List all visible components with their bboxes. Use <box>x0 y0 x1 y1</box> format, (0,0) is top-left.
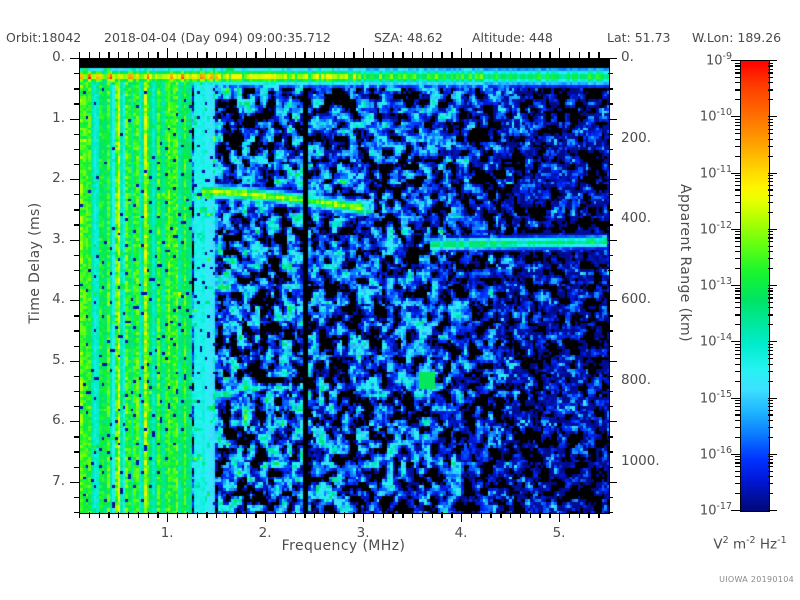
axis-tick <box>295 512 296 518</box>
axis-tick <box>608 270 613 271</box>
header-sza: SZA: 48.62 <box>374 30 443 45</box>
colorbar-tick <box>735 354 740 355</box>
axis-tick <box>70 119 79 120</box>
header-datetime: 2018-04-04 (Day 094) 09:00:35.712 <box>104 30 331 45</box>
colorbar-tick <box>768 406 773 407</box>
axis-tick <box>206 512 207 518</box>
axis-tick <box>177 52 178 58</box>
colorbar-tick <box>731 60 740 61</box>
y-tick-label-left-7: 7. <box>0 473 65 489</box>
axis-tick <box>236 52 237 58</box>
axis-tick <box>74 315 79 316</box>
header-metadata-bar: Orbit:18042 2018-04-04 (Day 094) 09:00:3… <box>0 30 800 50</box>
colorbar <box>740 60 770 512</box>
axis-tick <box>74 497 79 498</box>
axis-tick <box>608 512 613 513</box>
colorbar-tick <box>768 89 773 90</box>
axis-tick <box>265 48 266 58</box>
axis-tick <box>412 52 413 58</box>
colorbar-label-exponent: -9 <box>723 51 732 62</box>
axis-tick <box>471 52 472 58</box>
axis-tick <box>588 52 589 58</box>
colorbar-label-mantissa: 10 <box>700 391 717 406</box>
colorbar-tick <box>768 241 773 242</box>
colorbar-tick <box>768 471 773 472</box>
axis-tick <box>608 361 617 362</box>
axis-tick <box>530 512 531 518</box>
colorbar-tick <box>735 466 740 467</box>
colorbar-tick <box>731 116 740 117</box>
axis-tick <box>295 52 296 58</box>
axis-tick <box>74 73 79 74</box>
colorbar-tick <box>731 229 740 230</box>
colorbar-tick <box>768 307 773 308</box>
axis-tick <box>226 52 227 58</box>
axis-tick <box>70 179 79 180</box>
axis-tick <box>608 209 613 210</box>
unit-hz-exponent: -1 <box>777 535 786 546</box>
axis-tick <box>197 52 198 58</box>
colorbar-tick <box>735 347 740 348</box>
colorbar-tick <box>768 420 773 421</box>
colorbar-tick <box>768 410 773 411</box>
colorbar-tick-label-5: 10-14 <box>672 332 732 349</box>
colorbar-tick <box>768 60 777 61</box>
axis-tick <box>74 270 79 271</box>
axis-tick <box>74 376 79 377</box>
colorbar-label-mantissa: 10 <box>700 503 717 518</box>
axis-tick <box>451 512 452 518</box>
axis-tick <box>74 436 79 437</box>
colorbar-tick <box>768 341 777 342</box>
unit-v-exponent: 2 <box>723 535 729 546</box>
axis-tick <box>128 512 129 518</box>
axis-tick <box>74 209 79 210</box>
colorbar-tick <box>735 420 740 421</box>
colorbar-tick <box>735 195 740 196</box>
colorbar-tick <box>735 181 740 182</box>
spectrogram-heatmap <box>80 59 609 513</box>
colorbar-tick <box>735 63 740 64</box>
colorbar-tick <box>768 400 773 401</box>
colorbar-gradient <box>741 61 769 511</box>
axis-tick <box>608 436 613 437</box>
colorbar-tick <box>768 65 773 66</box>
axis-tick <box>608 179 617 180</box>
colorbar-tick <box>735 241 740 242</box>
colorbar-tick-label-1: 10-10 <box>672 107 732 124</box>
axis-tick <box>344 52 345 58</box>
colorbar-tick <box>768 202 773 203</box>
colorbar-tick <box>735 437 740 438</box>
y-tick-label-right-2: 400. <box>621 210 651 226</box>
colorbar-label-mantissa: 10 <box>700 110 717 125</box>
colorbar-tick <box>768 324 773 325</box>
axis-tick <box>324 52 325 58</box>
colorbar-tick <box>735 189 740 190</box>
axis-tick <box>490 512 491 518</box>
axis-tick <box>608 240 617 241</box>
axis-tick <box>373 52 374 58</box>
colorbar-tick <box>768 403 773 404</box>
colorbar-tick <box>735 119 740 120</box>
colorbar-tick <box>768 314 773 315</box>
colorbar-tick <box>768 358 773 359</box>
unit-m: m <box>733 537 746 553</box>
colorbar-tick <box>768 69 773 70</box>
axis-tick <box>79 52 80 58</box>
axis-tick <box>148 512 149 518</box>
colorbar-tick <box>735 400 740 401</box>
axis-tick <box>461 48 462 58</box>
axis-tick <box>70 300 79 301</box>
colorbar-tick <box>768 427 773 428</box>
colorbar-label-exponent: -14 <box>716 332 732 343</box>
axis-tick <box>608 119 617 120</box>
colorbar-tick-label-3: 10-12 <box>672 220 732 237</box>
colorbar-tick <box>768 285 777 286</box>
axis-tick <box>559 48 560 58</box>
axis-tick <box>608 224 613 225</box>
axis-tick <box>608 330 613 331</box>
axis-tick <box>608 88 613 89</box>
colorbar-tick-label-8: 10-17 <box>672 501 732 518</box>
colorbar-tick <box>735 493 740 494</box>
axis-tick <box>598 512 599 518</box>
colorbar-tick <box>735 344 740 345</box>
colorbar-tick-label-7: 10-16 <box>672 445 732 462</box>
axis-tick <box>608 285 613 286</box>
colorbar-tick <box>768 122 773 123</box>
colorbar-tick <box>768 381 773 382</box>
colorbar-tick <box>735 65 740 66</box>
axis-tick <box>74 149 79 150</box>
colorbar-tick <box>735 350 740 351</box>
axis-tick <box>70 482 79 483</box>
header-altitude: Altitude: 448 <box>472 30 553 45</box>
colorbar-tick <box>735 156 740 157</box>
axis-tick <box>608 149 613 150</box>
colorbar-tick <box>768 129 773 130</box>
footer-credit: UIOWA 20190104 <box>719 575 794 584</box>
axis-tick <box>314 52 315 58</box>
axis-tick <box>275 52 276 58</box>
axis-tick <box>89 52 90 58</box>
colorbar-tick <box>768 510 777 511</box>
axis-tick <box>167 48 168 58</box>
colorbar-tick <box>735 133 740 134</box>
colorbar-tick <box>768 297 773 298</box>
axis-tick <box>304 52 305 58</box>
colorbar-label-mantissa: 10 <box>700 447 717 462</box>
axis-tick <box>206 52 207 58</box>
axis-tick <box>363 512 364 522</box>
axis-tick <box>70 361 79 362</box>
colorbar-tick <box>735 427 740 428</box>
axis-tick <box>422 52 423 58</box>
axis-tick <box>441 512 442 518</box>
axis-tick <box>216 52 217 58</box>
axis-tick <box>608 467 613 468</box>
colorbar-tick <box>735 258 740 259</box>
colorbar-tick <box>735 381 740 382</box>
colorbar-tick <box>768 229 777 230</box>
colorbar-tick <box>768 116 777 117</box>
colorbar-unit-label: V2 m-2 Hz-1 <box>690 535 800 553</box>
axis-tick <box>275 512 276 518</box>
colorbar-tick <box>735 122 740 123</box>
colorbar-tick <box>768 156 773 157</box>
unit-v: V <box>713 537 722 553</box>
axis-tick <box>608 376 613 377</box>
axis-tick <box>608 103 613 104</box>
colorbar-tick <box>735 77 740 78</box>
axis-tick <box>549 512 550 518</box>
axis-tick <box>608 73 613 74</box>
colorbar-tick <box>731 341 740 342</box>
colorbar-tick <box>735 324 740 325</box>
axis-tick <box>383 512 384 518</box>
axis-tick <box>197 512 198 518</box>
colorbar-tick <box>768 178 773 179</box>
colorbar-tick <box>735 72 740 73</box>
axis-tick <box>598 52 599 58</box>
colorbar-label-exponent: -10 <box>716 107 732 118</box>
colorbar-label-exponent: -16 <box>716 445 732 456</box>
colorbar-label-mantissa: 10 <box>700 166 717 181</box>
y-axis-title-left: Time Delay (ms) <box>27 183 43 343</box>
axis-tick <box>441 52 442 58</box>
colorbar-tick-label-0: 10-9 <box>672 51 732 68</box>
axis-tick <box>148 52 149 58</box>
axis-tick <box>608 300 617 301</box>
colorbar-tick <box>768 246 773 247</box>
axis-tick <box>74 88 79 89</box>
colorbar-label-exponent: -11 <box>716 164 732 175</box>
unit-m-exponent: -2 <box>746 535 755 546</box>
axis-tick <box>353 52 354 58</box>
colorbar-tick <box>768 63 773 64</box>
colorbar-label-exponent: -15 <box>716 389 732 400</box>
colorbar-tick <box>768 302 773 303</box>
axis-tick <box>608 482 617 483</box>
axis-tick <box>559 512 560 522</box>
colorbar-tick <box>768 237 773 238</box>
colorbar-tick <box>735 231 740 232</box>
axis-tick <box>383 52 384 58</box>
y-tick-label-right-3: 600. <box>621 291 651 307</box>
colorbar-tick <box>735 69 740 70</box>
y-tick-label-right-4: 800. <box>621 372 651 388</box>
colorbar-tick <box>731 510 740 511</box>
colorbar-tick <box>768 173 777 174</box>
colorbar-tick <box>735 403 740 404</box>
colorbar-tick <box>735 302 740 303</box>
colorbar-tick <box>731 454 740 455</box>
colorbar-tick <box>735 202 740 203</box>
colorbar-tick <box>768 258 773 259</box>
colorbar-tick <box>768 290 773 291</box>
colorbar-tick <box>768 476 773 477</box>
axis-tick <box>74 134 79 135</box>
colorbar-tick <box>768 483 773 484</box>
axis-tick <box>157 512 158 518</box>
axis-tick <box>177 512 178 518</box>
colorbar-tick <box>735 125 740 126</box>
axis-tick <box>539 512 540 518</box>
axis-tick <box>167 512 168 522</box>
colorbar-tick <box>735 476 740 477</box>
axis-tick <box>304 512 305 518</box>
colorbar-tick <box>768 82 773 83</box>
axis-tick <box>608 451 613 452</box>
colorbar-tick <box>735 459 740 460</box>
colorbar-tick <box>735 288 740 289</box>
axis-tick <box>70 240 79 241</box>
colorbar-tick <box>768 139 773 140</box>
axis-tick <box>79 512 80 518</box>
axis-tick <box>608 421 617 422</box>
colorbar-tick <box>768 493 773 494</box>
colorbar-label-exponent: -17 <box>716 501 732 512</box>
colorbar-tick <box>731 398 740 399</box>
axis-tick <box>481 512 482 518</box>
axis-tick <box>99 52 100 58</box>
axis-tick <box>549 52 550 58</box>
colorbar-label-mantissa: 10 <box>700 335 717 350</box>
colorbar-tick <box>768 119 773 120</box>
colorbar-tick <box>768 189 773 190</box>
colorbar-tick <box>735 294 740 295</box>
axis-tick <box>402 512 403 518</box>
colorbar-tick-label-6: 10-15 <box>672 389 732 406</box>
colorbar-tick-label-2: 10-11 <box>672 164 732 181</box>
axis-tick <box>539 52 540 58</box>
axis-tick <box>500 512 501 518</box>
axis-tick <box>246 52 247 58</box>
axis-tick <box>74 451 79 452</box>
header-orbit: Orbit:18042 <box>6 30 81 45</box>
colorbar-tick <box>735 462 740 463</box>
axis-tick <box>138 52 139 58</box>
colorbar-tick <box>768 234 773 235</box>
y-tick-label-left-5: 5. <box>0 352 65 368</box>
colorbar-tick <box>735 146 740 147</box>
y-tick-label-left-0: 0. <box>0 49 65 65</box>
axis-tick <box>216 512 217 518</box>
colorbar-tick <box>768 185 773 186</box>
axis-tick <box>70 58 79 59</box>
axis-tick <box>324 512 325 518</box>
colorbar-tick <box>735 237 740 238</box>
colorbar-tick <box>768 268 773 269</box>
colorbar-tick <box>768 437 773 438</box>
y-tick-label-right-0: 0. <box>621 49 634 65</box>
axis-tick <box>74 330 79 331</box>
colorbar-label-mantissa: 10 <box>700 278 717 293</box>
colorbar-label-mantissa: 10 <box>700 222 717 237</box>
axis-tick <box>422 512 423 518</box>
colorbar-tick <box>735 234 740 235</box>
colorbar-tick <box>735 471 740 472</box>
axis-tick <box>74 164 79 165</box>
colorbar-tick <box>735 410 740 411</box>
axis-tick <box>70 421 79 422</box>
axis-tick <box>255 512 256 518</box>
axis-tick <box>74 224 79 225</box>
axis-tick <box>255 52 256 58</box>
axis-tick <box>510 512 511 518</box>
axis-tick <box>138 512 139 518</box>
axis-tick <box>608 315 613 316</box>
colorbar-tick <box>768 371 773 372</box>
axis-tick <box>569 52 570 58</box>
colorbar-tick <box>768 459 773 460</box>
axis-tick <box>187 52 188 58</box>
axis-tick <box>285 52 286 58</box>
colorbar-tick <box>731 173 740 174</box>
colorbar-tick <box>768 146 773 147</box>
axis-tick <box>569 512 570 518</box>
y-tick-label-right-5: 1000. <box>621 453 660 469</box>
colorbar-tick <box>768 175 773 176</box>
header-west-longitude: W.Lon: 189.26 <box>692 30 781 45</box>
axis-tick <box>187 512 188 518</box>
colorbar-tick <box>735 290 740 291</box>
axis-tick <box>89 512 90 518</box>
axis-tick <box>588 512 589 518</box>
colorbar-tick <box>735 371 740 372</box>
axis-tick <box>74 285 79 286</box>
axis-tick <box>373 512 374 518</box>
header-latitude: Lat: 51.73 <box>607 30 671 45</box>
axis-tick <box>432 512 433 518</box>
axis-tick <box>608 346 613 347</box>
axis-tick <box>334 512 335 518</box>
axis-tick <box>608 391 613 392</box>
axis-tick <box>363 48 364 58</box>
axis-tick <box>412 512 413 518</box>
colorbar-tick <box>768 195 773 196</box>
colorbar-tick <box>768 77 773 78</box>
colorbar-tick <box>735 414 740 415</box>
axis-tick <box>520 52 521 58</box>
colorbar-label-mantissa: 10 <box>706 53 723 68</box>
axis-tick <box>118 52 119 58</box>
axis-tick <box>314 512 315 518</box>
colorbar-tick <box>735 185 740 186</box>
colorbar-tick <box>768 99 773 100</box>
y-axis-title-right: Apparent Range (km) <box>677 173 693 353</box>
colorbar-tick <box>768 72 773 73</box>
colorbar-tick <box>768 456 773 457</box>
colorbar-tick <box>768 294 773 295</box>
colorbar-tick <box>735 406 740 407</box>
axis-tick <box>108 52 109 58</box>
colorbar-tick <box>735 139 740 140</box>
colorbar-tick <box>735 364 740 365</box>
axis-tick <box>392 512 393 518</box>
colorbar-tick <box>731 285 740 286</box>
colorbar-tick <box>768 347 773 348</box>
colorbar-tick <box>735 246 740 247</box>
axis-tick <box>74 346 79 347</box>
axis-tick <box>579 512 580 518</box>
axis-tick <box>74 406 79 407</box>
axis-tick <box>265 512 266 522</box>
axis-tick <box>74 103 79 104</box>
axis-tick <box>353 512 354 518</box>
